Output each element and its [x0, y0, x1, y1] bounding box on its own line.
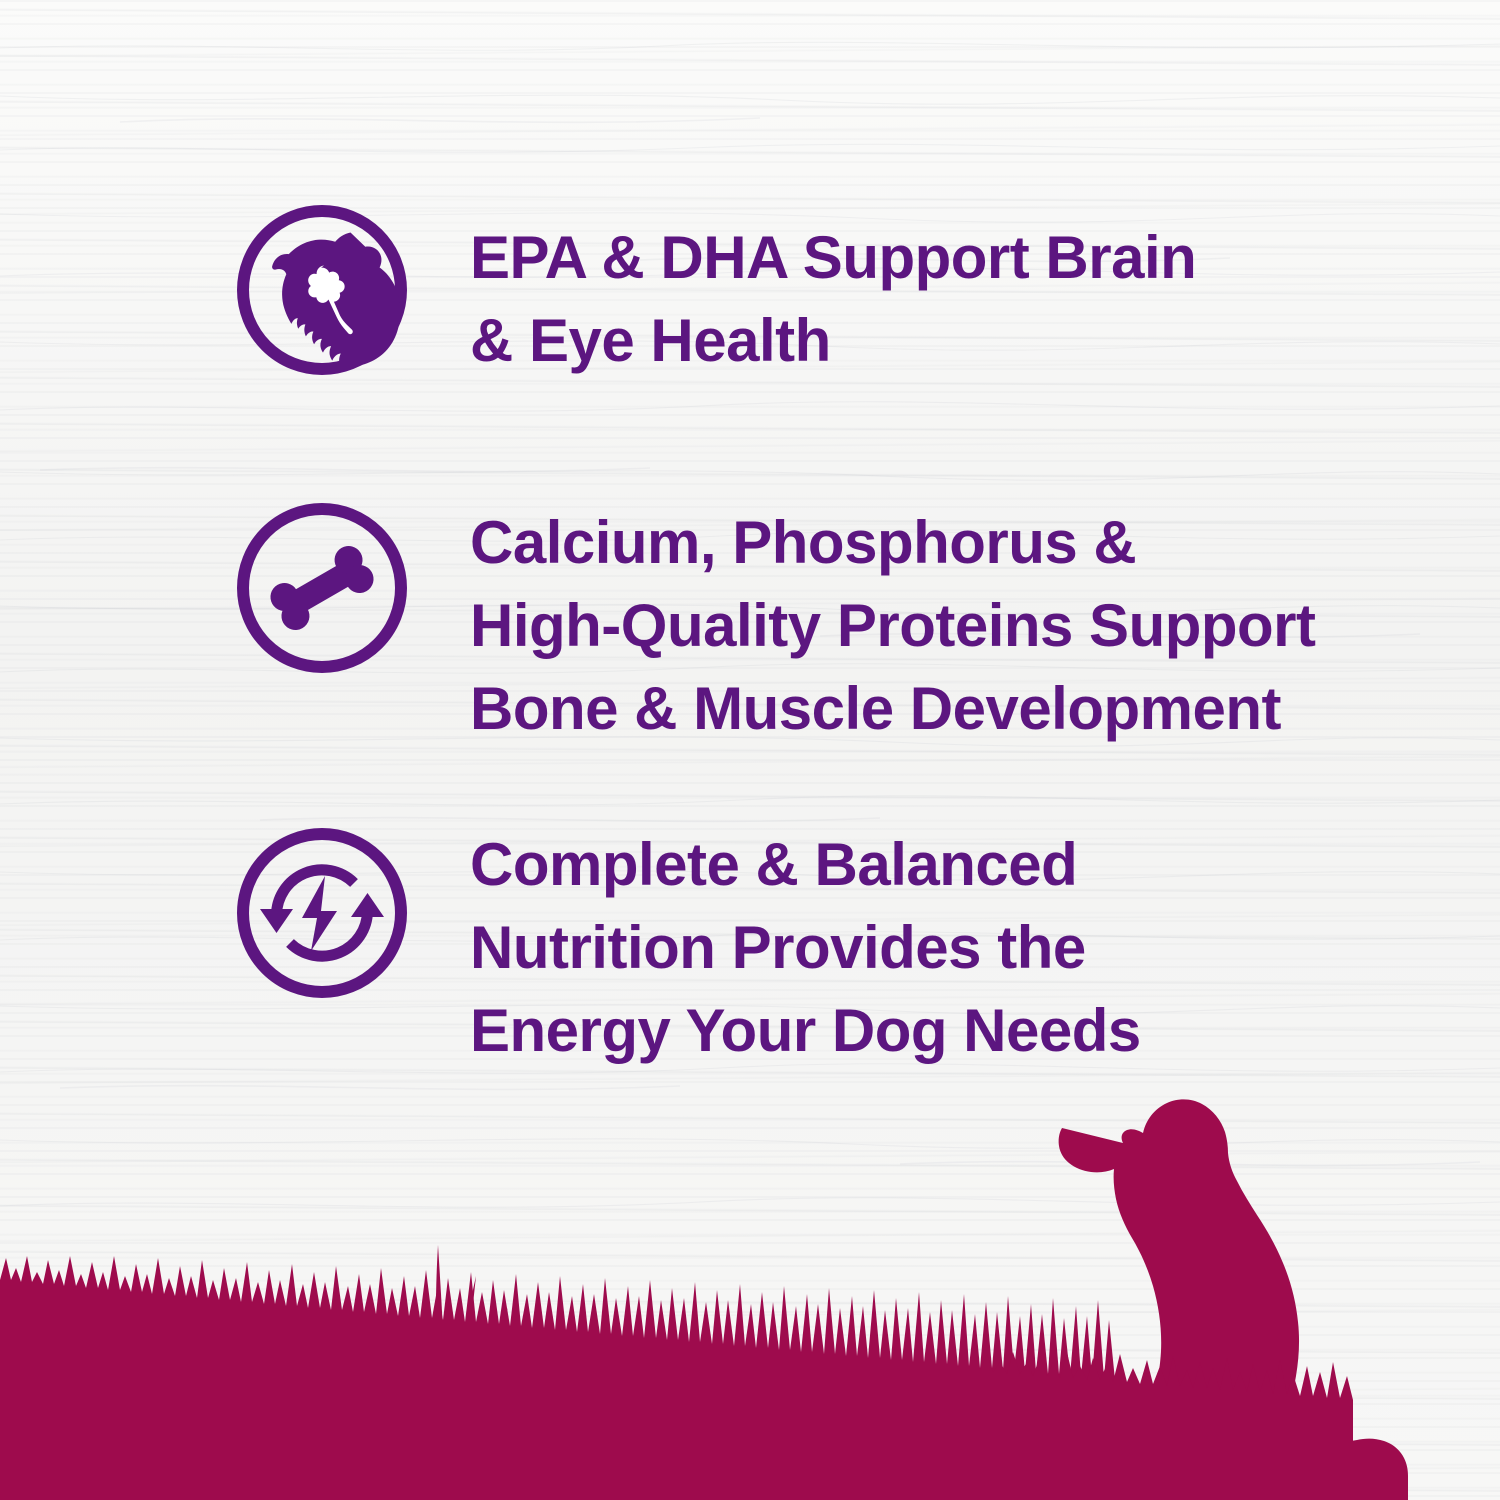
- feature-text-brain-eye: EPA & DHA Support Brain & Eye Health: [470, 200, 1196, 382]
- poster-canvas: EPA & DHA Support Brain & Eye Health: [0, 0, 1500, 1500]
- bone-icon: [232, 498, 412, 678]
- dog-head-brain-icon: [232, 200, 412, 380]
- feature-line: Bone & Muscle Development: [470, 667, 1316, 750]
- feature-line: High-Quality Proteins Support: [470, 584, 1316, 667]
- grass-and-dog-scene: [0, 1040, 1500, 1500]
- feature-line: EPA & DHA Support Brain: [470, 216, 1196, 299]
- feature-line: Complete & Balanced: [470, 823, 1141, 906]
- energy-cycle-icon: [232, 823, 412, 1003]
- feature-item-brain-eye: EPA & DHA Support Brain & Eye Health: [232, 200, 1196, 382]
- feature-item-bone-muscle: Calcium, Phosphorus & High-Quality Prote…: [232, 498, 1316, 750]
- feature-line: Calcium, Phosphorus &: [470, 501, 1316, 584]
- feature-text-energy: Complete & Balanced Nutrition Provides t…: [470, 823, 1141, 1072]
- feature-line: & Eye Health: [470, 299, 1196, 382]
- feature-line: Nutrition Provides the: [470, 906, 1141, 989]
- grass-silhouette: [0, 1256, 1115, 1500]
- feature-item-energy: Complete & Balanced Nutrition Provides t…: [232, 823, 1141, 1072]
- feature-text-bone-muscle: Calcium, Phosphorus & High-Quality Prote…: [470, 498, 1316, 750]
